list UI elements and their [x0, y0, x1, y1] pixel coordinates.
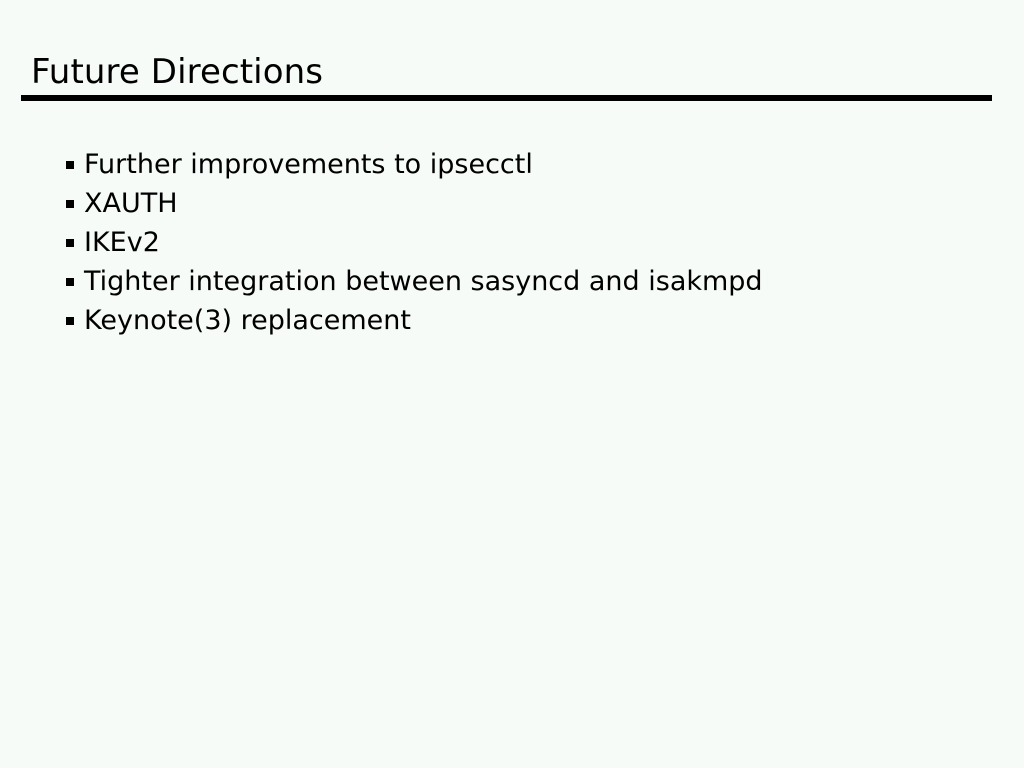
list-item: Keynote(3) replacement: [66, 301, 763, 340]
page-title: Future Directions: [31, 52, 323, 92]
list-item-label: IKEv2: [84, 223, 160, 262]
list-item-label: Tighter integration between sasyncd and …: [84, 262, 763, 301]
list-item: Further improvements to ipsecctl: [66, 145, 763, 184]
square-bullet-icon: [66, 317, 74, 325]
slide: Future Directions Further improvements t…: [0, 0, 1024, 768]
list-item: Tighter integration between sasyncd and …: [66, 262, 763, 301]
square-bullet-icon: [66, 200, 74, 208]
list-item: XAUTH: [66, 184, 763, 223]
list-item-label: XAUTH: [84, 184, 178, 223]
square-bullet-icon: [66, 278, 74, 286]
bullet-list: Further improvements to ipsecctl XAUTH I…: [66, 145, 763, 340]
list-item: IKEv2: [66, 223, 763, 262]
square-bullet-icon: [66, 239, 74, 247]
list-item-label: Keynote(3) replacement: [84, 301, 411, 340]
square-bullet-icon: [66, 161, 74, 169]
list-item-label: Further improvements to ipsecctl: [84, 145, 533, 184]
title-underline-rule: [21, 95, 992, 101]
